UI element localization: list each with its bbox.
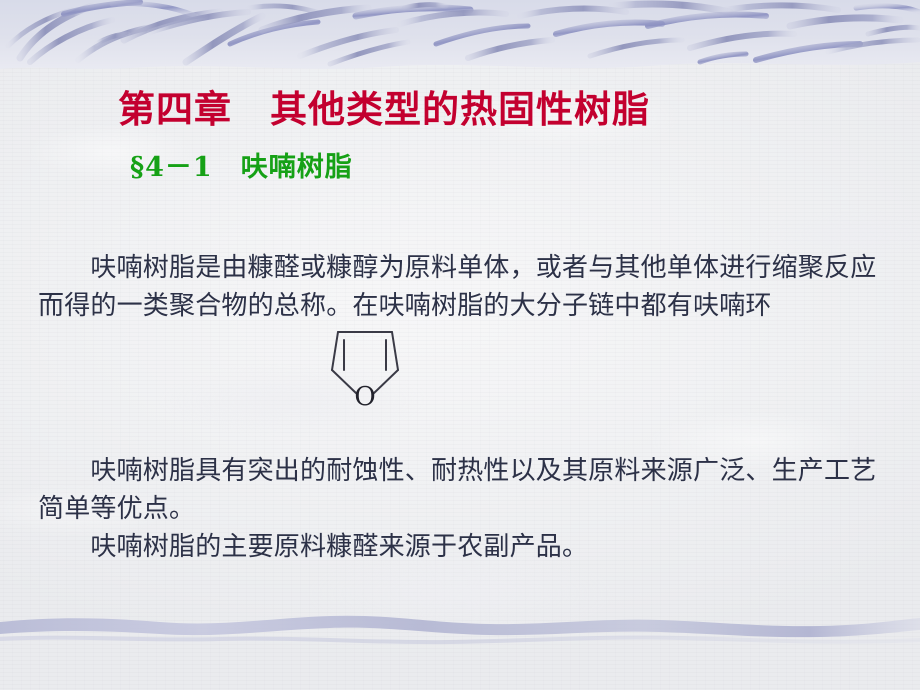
page-title: 第四章 其他类型的热固性树脂 bbox=[118, 86, 650, 132]
furan-ring-structure: O bbox=[322, 326, 408, 412]
furan-ring-svg: O bbox=[322, 326, 408, 412]
slide-canvas: 第四章 其他类型的热固性树脂 §4－1 呋喃树脂 呋喃树脂是由糠醛或糠醇为原料单… bbox=[0, 0, 920, 690]
paragraph-raw-material: 呋喃树脂的主要原料糠醛来源于农副产品。 bbox=[38, 528, 898, 566]
footer-wave-svg bbox=[0, 596, 920, 666]
paragraph-definition: 呋喃树脂是由糠醛或糠醇为原料单体，或者与其他单体进行缩聚反应而得的一类聚合物的总… bbox=[38, 249, 898, 325]
paragraph-properties: 呋喃树脂具有突出的耐蚀性、耐热性以及其原料来源广泛、生产工艺简单等优点。 bbox=[38, 452, 898, 528]
section-heading: §4－1 呋喃树脂 bbox=[130, 151, 353, 185]
footer-decoration-wave bbox=[0, 596, 920, 666]
slide-content: 第四章 其他类型的热固性树脂 §4－1 呋喃树脂 呋喃树脂是由糠醛或糠醇为原料单… bbox=[0, 0, 920, 690]
oxygen-atom-label: O bbox=[354, 382, 375, 412]
